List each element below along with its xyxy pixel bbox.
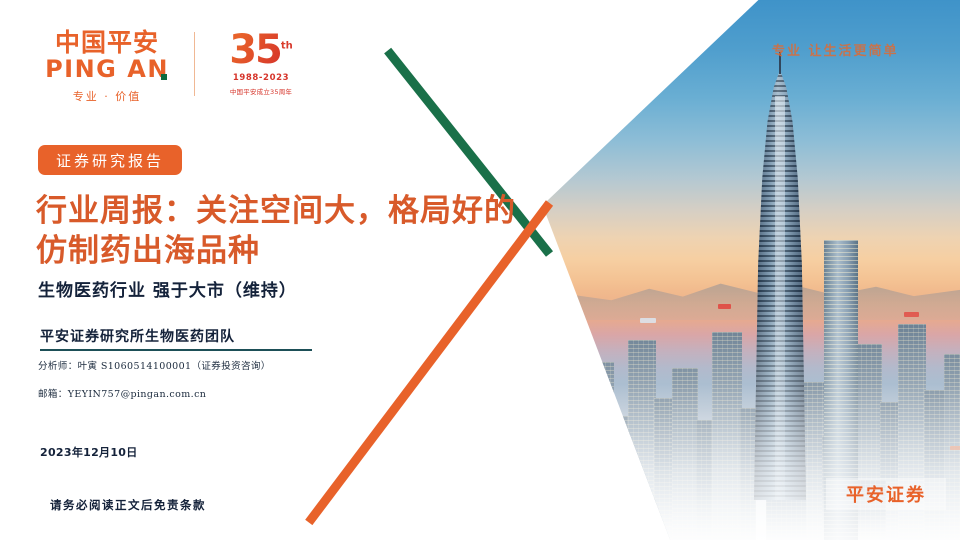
anniversary-caption: 中国平安成立35周年 — [230, 86, 292, 96]
brand-green-square-icon — [161, 74, 167, 80]
report-date: 2023年12月10日 — [40, 444, 138, 460]
report-type-badge: 证券研究报告 — [38, 145, 182, 175]
report-subtitle: 生物医药行业 强于大市（维持） — [38, 276, 297, 301]
team-divider — [40, 349, 312, 351]
brand-name-en-text: PING AN — [45, 55, 169, 83]
brand-tagline: 专业 让生活更简单 — [772, 40, 899, 59]
logo-divider — [194, 32, 195, 96]
research-team-name: 平安证券研究所生物医药团队 — [40, 326, 235, 346]
cover-photograph — [540, 0, 960, 540]
report-title: 行业周报：关注空间大，格局好的仿制药出海品种 — [36, 191, 528, 272]
footer-logo-text: 平安证券 — [846, 481, 926, 507]
ping-an-logo: 中国平安 PING AN 专业 · 价值 35th 1988-2023 中国平安… — [38, 30, 309, 104]
anniversary-number: 35th — [229, 32, 293, 69]
analyst-credentials: 分析师：叶寅 S1060514100001（证券投资咨询） — [38, 358, 271, 372]
disclaimer-note: 请务必阅读正文后免责条款 — [50, 497, 206, 513]
report-type-badge-label: 证券研究报告 — [56, 150, 164, 171]
anniversary-badge: 35th 1988-2023 中国平安成立35周年 — [213, 30, 309, 96]
brand-slogan: 专业 · 价值 — [73, 88, 142, 104]
analyst-email: 邮箱：YEYIN757@pingan.com.cn — [38, 386, 206, 400]
anniversary-ordinal: th — [281, 41, 293, 52]
report-cover-slide: 专业 让生活更简单 平安证券 中国平安 PING AN 专业 · 价值 35th… — [0, 0, 960, 540]
anniversary-years: 1988-2023 — [233, 73, 289, 83]
anniversary-number-text: 35 — [229, 27, 281, 73]
footer-logo-plate: 平安证券 — [826, 478, 946, 510]
brand-name-en: PING AN — [45, 57, 169, 81]
brand-name-cn: 中国平安 — [55, 30, 159, 56]
